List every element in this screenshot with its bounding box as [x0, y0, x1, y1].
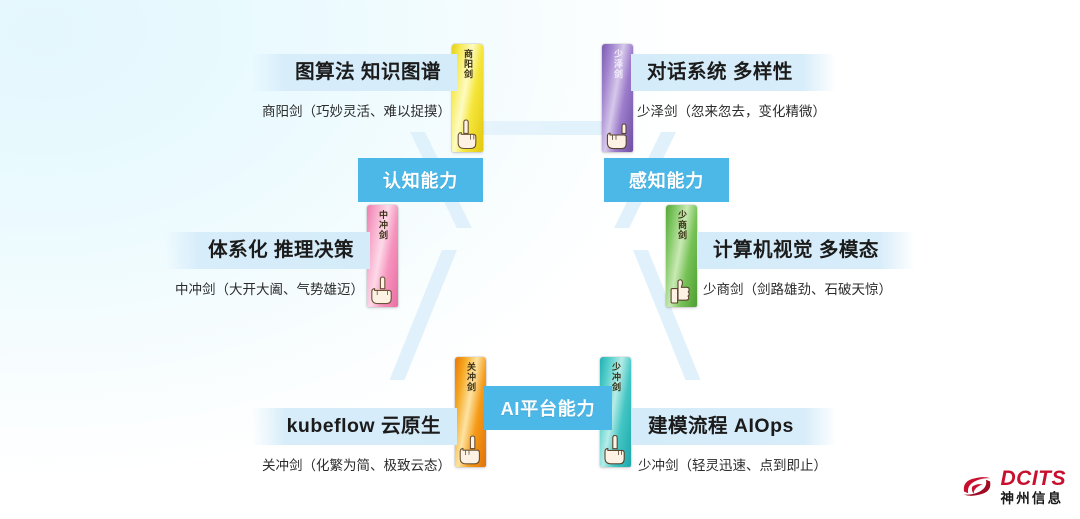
sword-label-shaozejian: 少泽剑 — [612, 49, 623, 79]
capability-chip-perceptive[interactable]: 感知能力 — [604, 158, 729, 202]
panel-dialogue-system-title: 对话系统 多样性 — [631, 54, 836, 91]
sword-label-zhongchongjian: 中冲剑 — [377, 210, 388, 240]
sword-bar-shaoshangjian: 少商剑 — [666, 205, 697, 307]
panel-modeling-aiops[interactable]: 建模流程 AIOps 少冲剑（轻灵迅速、点到即止） — [632, 408, 837, 474]
panel-knowledge-graph[interactable]: 图算法 知识图谱 商阳剑（巧妙灵活、难以捉摸） — [252, 54, 457, 120]
panel-modeling-aiops-subtitle: 少冲剑（轻灵迅速、点到即止） — [632, 454, 837, 474]
capability-chip-ai-platform[interactable]: AI平台能力 — [484, 386, 612, 430]
connector-lower-left — [389, 250, 457, 380]
sword-bar-zhongchongjian: 中冲剑 — [367, 205, 398, 307]
panel-modeling-aiops-title: 建模流程 AIOps — [632, 408, 837, 445]
panel-knowledge-graph-subtitle: 商阳剑（巧妙灵活、难以捉摸） — [252, 100, 457, 120]
sword-bar-shaozejian: 少泽剑 — [602, 44, 633, 152]
capability-chip-cognitive-label: 认知能力 — [383, 167, 458, 193]
panel-kubeflow-cloud-native-subtitle: 关冲剑（化繁为简、极致云态） — [252, 454, 457, 474]
panel-reasoning-decision-title: 体系化 推理决策 — [165, 232, 370, 269]
panel-knowledge-graph-title: 图算法 知识图谱 — [252, 54, 457, 91]
panel-computer-vision-subtitle: 少商剑（剑路雄劲、石破天惊） — [697, 278, 915, 298]
panel-computer-vision[interactable]: 计算机视觉 多模态 少商剑（剑路雄劲、石破天惊） — [697, 232, 915, 298]
panel-dialogue-system[interactable]: 对话系统 多样性 少泽剑（忽来忽去，变化精微） — [631, 54, 836, 120]
sword-label-guanchongjian: 关冲剑 — [465, 362, 476, 392]
brand-wordmark: DCITS 神州信息 — [1001, 468, 1067, 506]
panel-kubeflow-cloud-native[interactable]: kubeflow 云原生 关冲剑（化繁为简、极致云态） — [252, 408, 457, 474]
capability-chip-cognitive[interactable]: 认知能力 — [358, 158, 483, 202]
panel-kubeflow-cloud-native-title: kubeflow 云原生 — [252, 408, 457, 445]
dcits-swirl-icon — [960, 471, 994, 501]
thumbs-up-icon — [669, 271, 695, 305]
connector-top — [480, 121, 610, 135]
diagram-canvas: 商阳剑 少泽剑 中冲剑 — [0, 0, 1080, 519]
brand-name-cn: 神州信息 — [1001, 492, 1067, 506]
panel-dialogue-system-subtitle: 少泽剑（忽来忽去，变化精微） — [631, 100, 836, 120]
middle-finger-icon — [370, 271, 396, 305]
sword-bar-guanchongjian: 关冲剑 — [455, 357, 486, 467]
index-finger-up-icon — [455, 116, 481, 150]
capability-chip-perceptive-label: 感知能力 — [629, 167, 704, 193]
pinky-finger-icon — [605, 116, 631, 150]
sword-label-shangyangjian: 商阳剑 — [462, 49, 473, 79]
pinky-tip-icon — [603, 431, 629, 465]
brand-logo: DCITS 神州信息 — [960, 468, 1067, 506]
sword-label-shaoshangjian: 少商剑 — [676, 210, 687, 240]
capability-chip-ai-platform-label: AI平台能力 — [501, 395, 596, 421]
ring-finger-icon — [458, 431, 484, 465]
panel-reasoning-decision-subtitle: 中冲剑（大开大阖、气势雄迈） — [165, 278, 370, 298]
panel-computer-vision-title: 计算机视觉 多模态 — [697, 232, 915, 269]
panel-reasoning-decision[interactable]: 体系化 推理决策 中冲剑（大开大阖、气势雄迈） — [165, 232, 370, 298]
brand-name-en: DCITS — [1001, 468, 1067, 489]
